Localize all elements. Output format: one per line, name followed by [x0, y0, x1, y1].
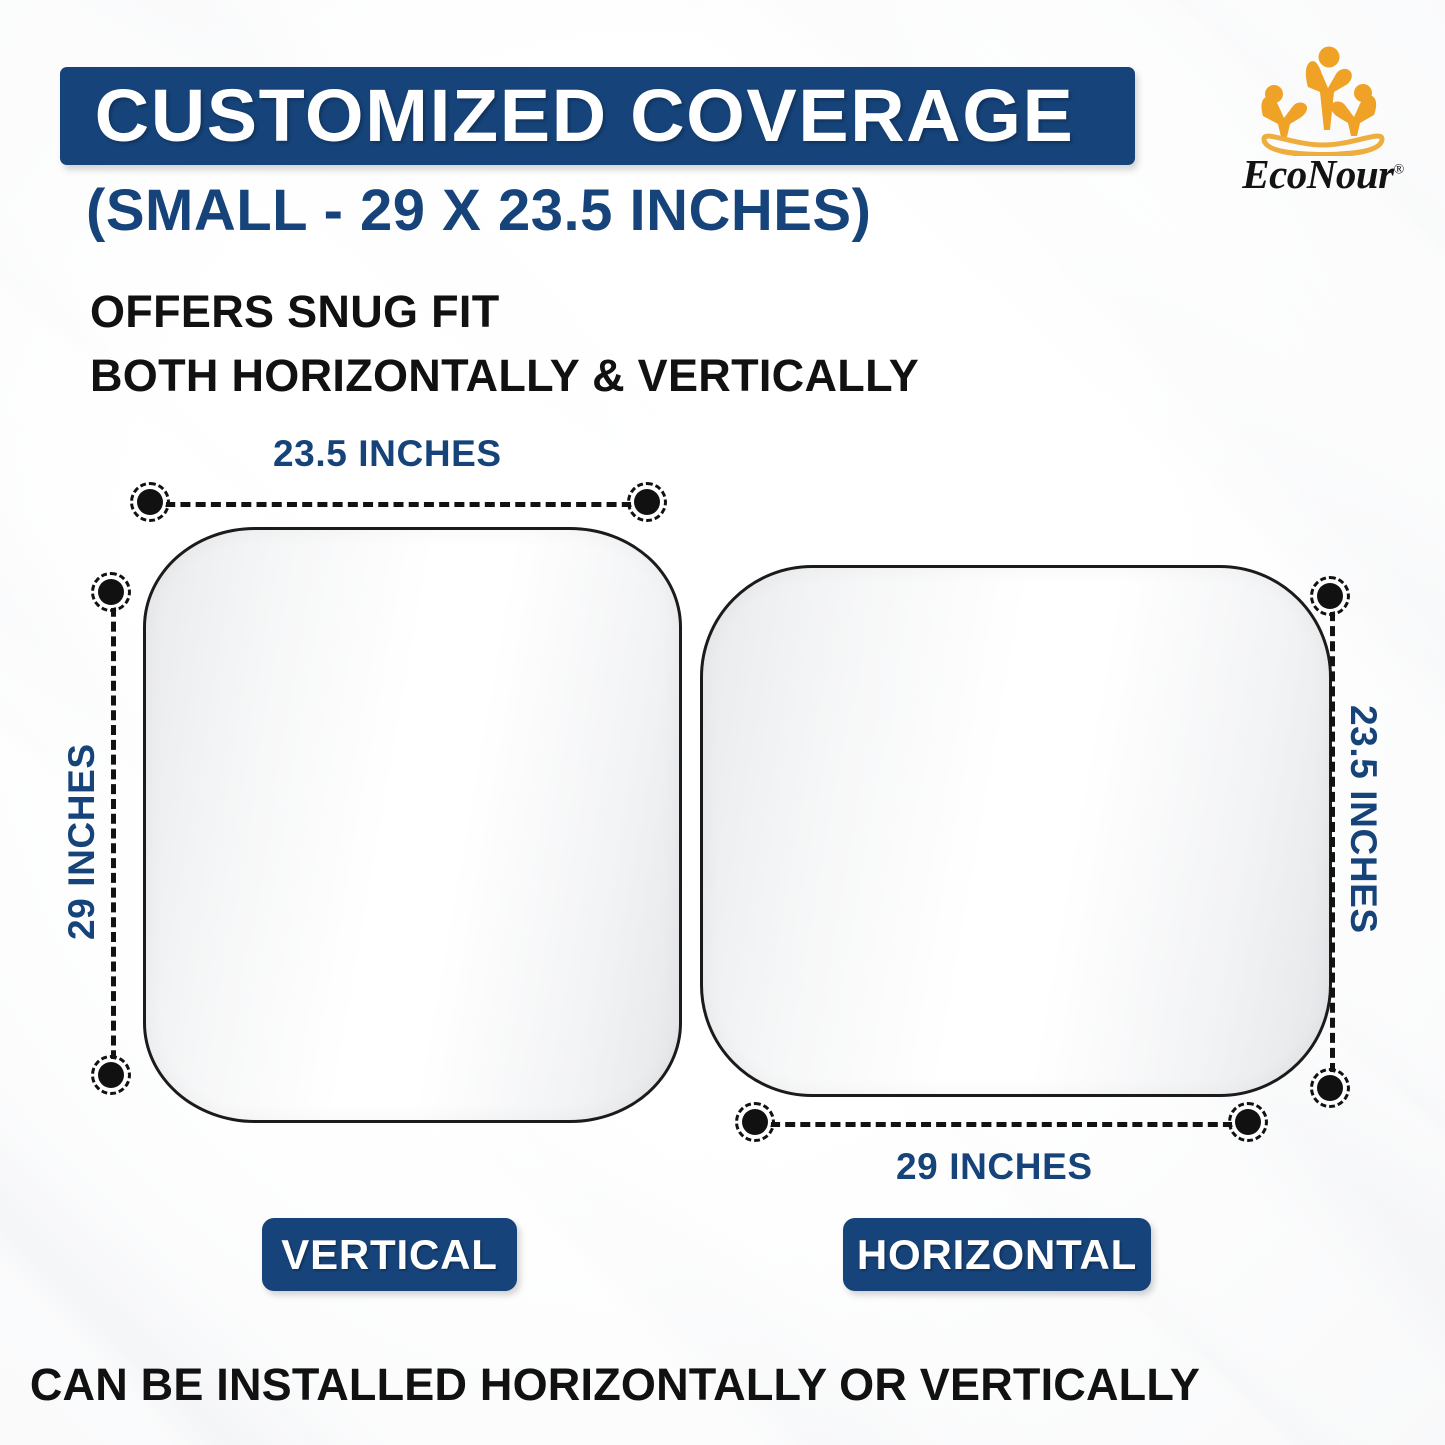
orientation-badge-vertical: VERTICAL: [262, 1218, 517, 1291]
brand-name: EcoNour: [1242, 151, 1393, 197]
dimension-endpoint-marker: [1235, 1109, 1261, 1135]
dimension-endpoint-marker: [634, 489, 660, 515]
tagline-line-1: OFFERS SNUG FIT: [90, 280, 919, 344]
brand-wordmark: EcoNour®: [1242, 154, 1404, 195]
brand-logo: EcoNour®: [1242, 44, 1404, 204]
registered-trademark-icon: ®: [1394, 162, 1404, 177]
dimension-endpoint-marker: [98, 579, 124, 605]
dimension-endpoint-marker: [98, 1062, 124, 1088]
dimension-endpoint-marker: [1317, 1075, 1343, 1101]
dimension-line-vertical-height: [111, 592, 116, 1075]
page-title: CUSTOMIZED COVERAGE: [60, 79, 1074, 153]
dimension-label-horizontal-width: 29 INCHES: [896, 1148, 1093, 1185]
dimension-label-vertical-width: 23.5 INCHES: [273, 435, 502, 472]
orientation-badge-vertical-label: VERTICAL: [281, 1234, 497, 1276]
size-subtitle: (SMALL - 29 X 23.5 INCHES): [86, 182, 871, 240]
footer-note: CAN BE INSTALLED HORIZONTALLY OR VERTICA…: [0, 1362, 1230, 1407]
dimension-endpoint-marker: [137, 489, 163, 515]
dimension-line-horizontal-width: [755, 1122, 1248, 1127]
dimension-endpoint-marker: [742, 1109, 768, 1135]
title-banner: CUSTOMIZED COVERAGE: [60, 67, 1135, 165]
three-people-raising-arms-icon: [1250, 44, 1396, 156]
orientation-badge-horizontal-label: HORIZONTAL: [857, 1234, 1137, 1276]
tagline-line-2: BOTH HORIZONTALLY & VERTICALLY: [90, 344, 919, 408]
dimension-line-horizontal-height: [1330, 596, 1335, 1088]
dimension-label-horizontal-height: 23.5 INCHES: [1345, 705, 1382, 934]
orientation-badge-horizontal: HORIZONTAL: [843, 1218, 1151, 1291]
sunshade-shape-vertical: [143, 527, 682, 1123]
infographic-page: CUSTOMIZED COVERAGE (SMALL - 29 X 23.5 I…: [0, 0, 1445, 1445]
dimension-endpoint-marker: [1317, 583, 1343, 609]
sunshade-shape-horizontal: [700, 565, 1332, 1097]
dimension-label-vertical-height: 29 INCHES: [63, 743, 100, 940]
tagline-block: OFFERS SNUG FIT BOTH HORIZONTALLY & VERT…: [90, 280, 919, 408]
dimension-line-vertical-width: [150, 502, 647, 507]
